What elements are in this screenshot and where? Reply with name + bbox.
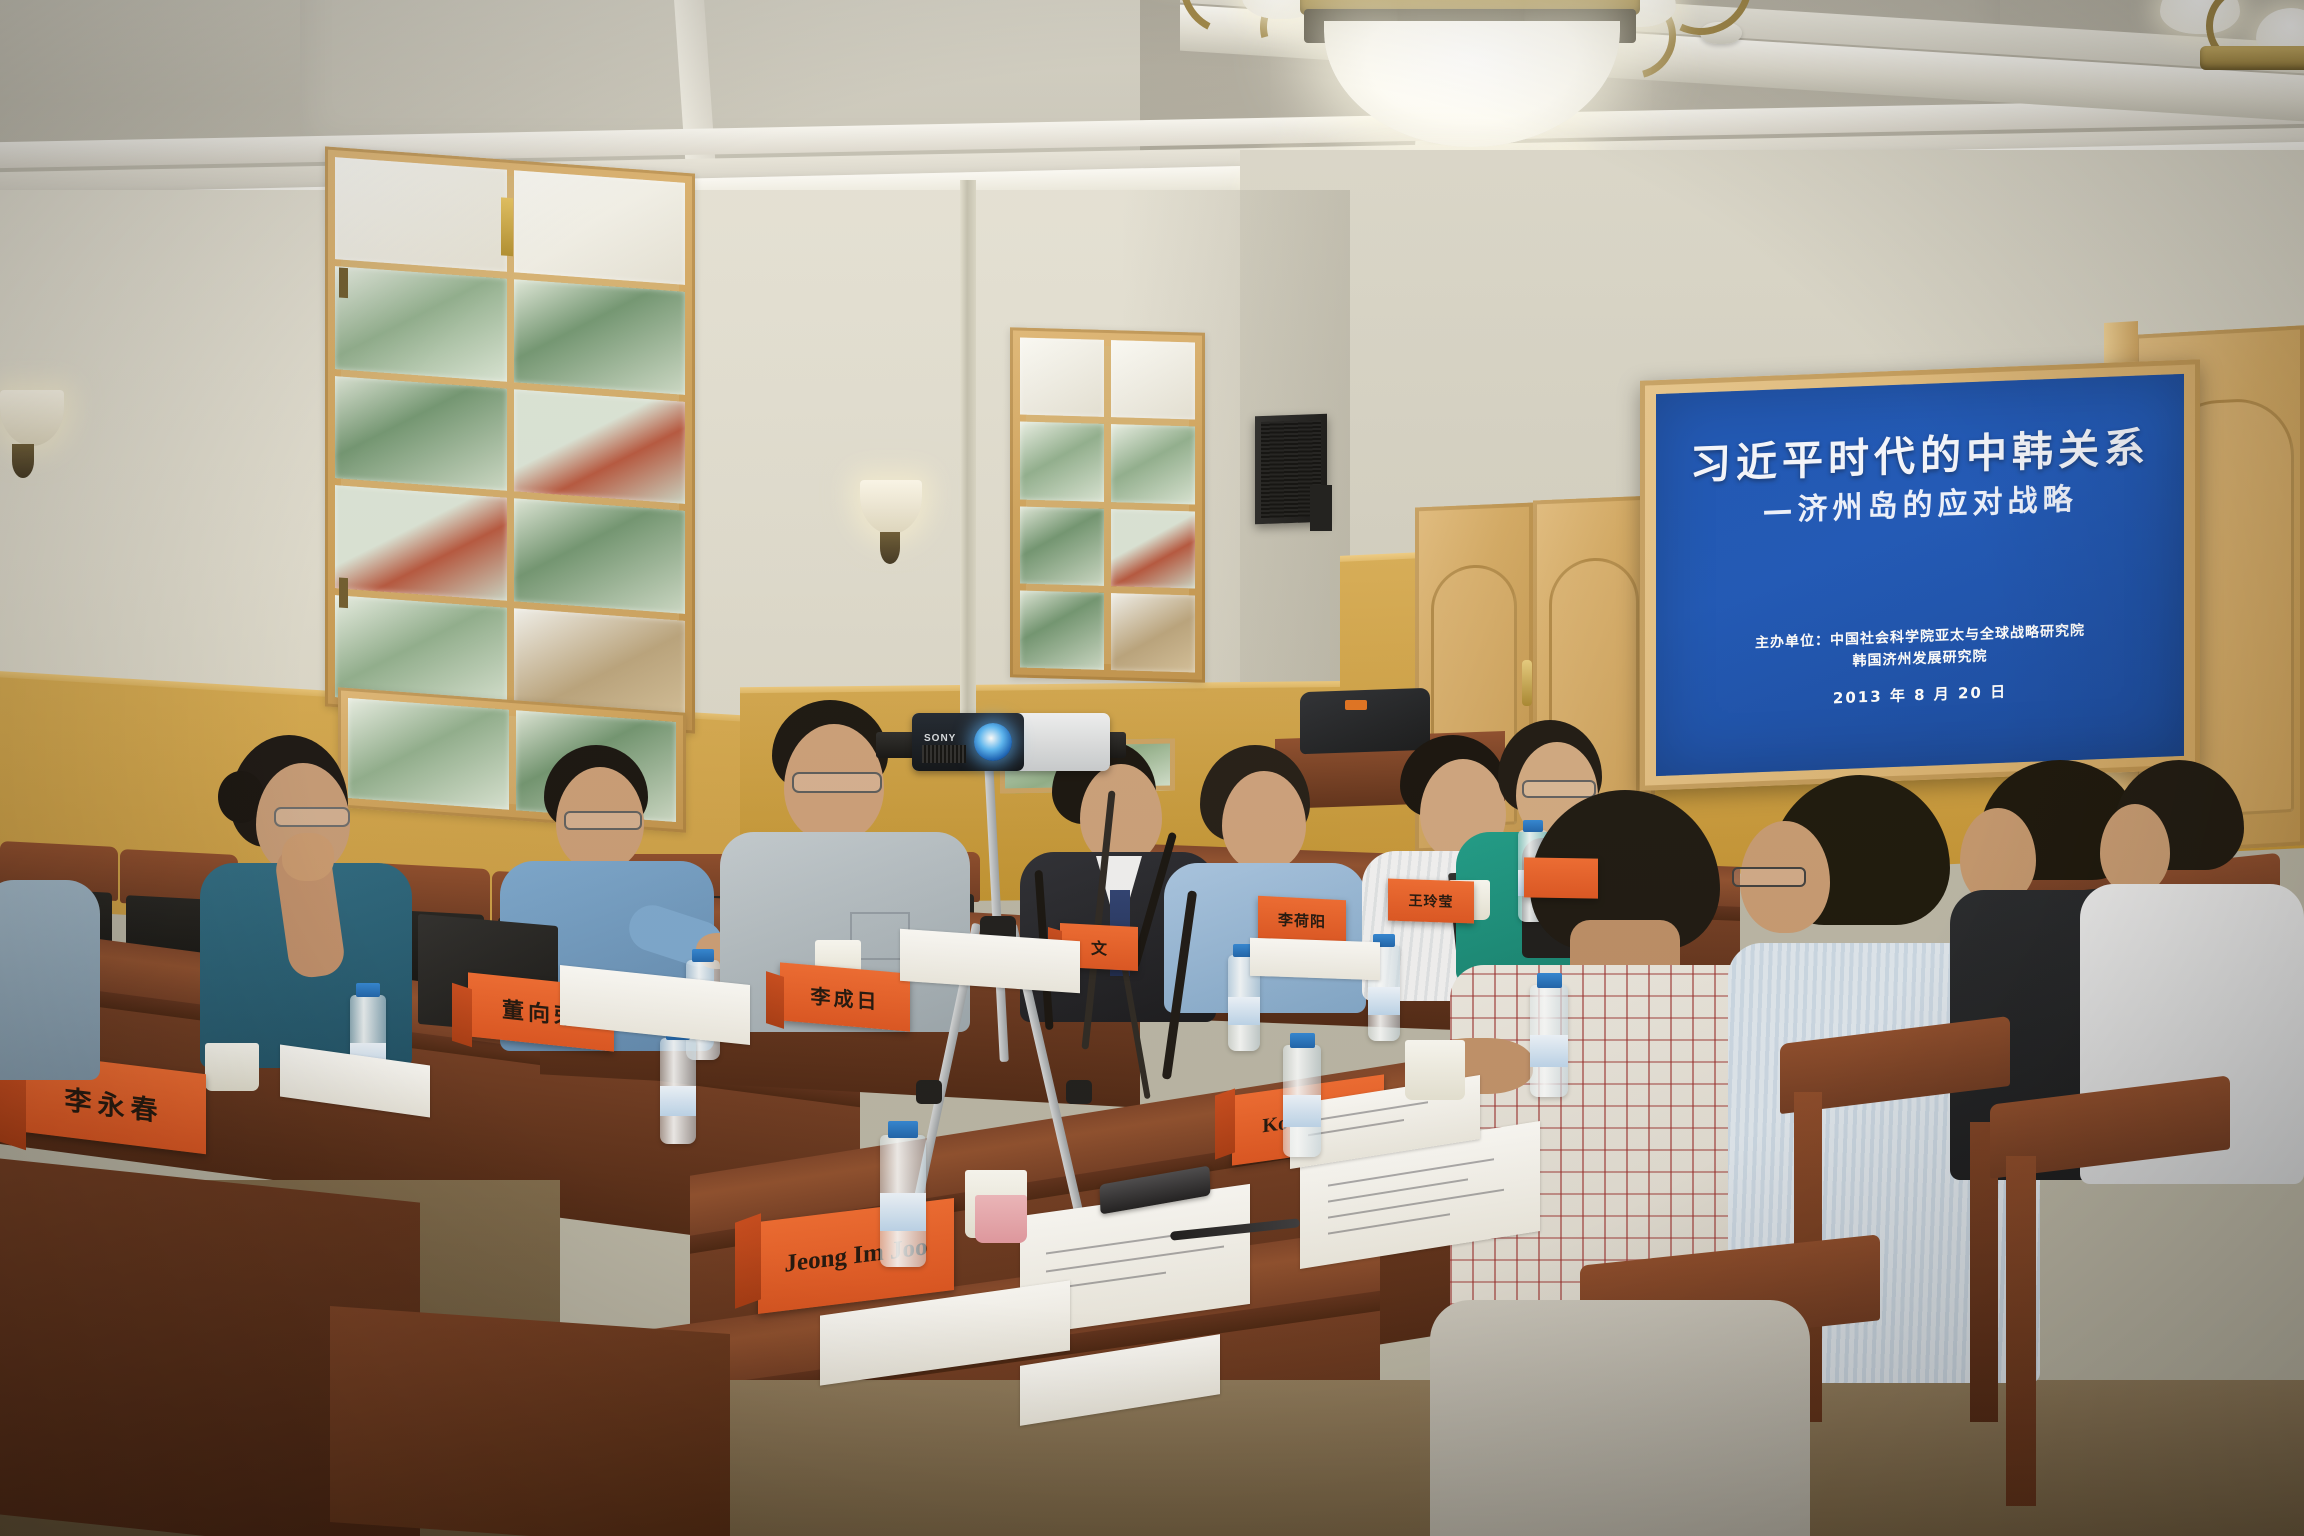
water-bottle[interactable] xyxy=(660,1038,696,1144)
name-card xyxy=(1524,857,1598,898)
document-sheet[interactable] xyxy=(1250,938,1380,981)
glasses xyxy=(564,811,642,830)
conference-room-photo: 习近平时代的中韩关系 —济州岛的应对战略 主办单位：中国社会科学院亚太与全球战略… xyxy=(0,0,2304,1536)
glasses xyxy=(792,772,882,793)
paper-cup[interactable] xyxy=(1405,1040,1465,1100)
water-bottle[interactable] xyxy=(1283,1045,1321,1157)
face xyxy=(2100,804,2170,894)
banner-frame: 习近平时代的中韩关系 —济州岛的应对战略 主办单位：中国社会科学院亚太与全球战略… xyxy=(1640,359,2200,791)
water-bottle[interactable] xyxy=(880,1135,926,1267)
casement-window-left xyxy=(325,146,695,733)
window-latch[interactable] xyxy=(501,197,513,256)
projector-vents xyxy=(922,745,966,763)
name-card-label: 李成日 xyxy=(811,979,880,1014)
window-hinge xyxy=(339,577,348,608)
speaker-bracket xyxy=(1310,485,1332,531)
glasses xyxy=(1732,867,1806,887)
face xyxy=(1222,771,1306,871)
name-card-backside xyxy=(1215,1088,1235,1159)
conference-chair-left-foreground-2[interactable] xyxy=(330,1306,730,1536)
window-hinge xyxy=(339,267,348,298)
wall-conduit-pipe xyxy=(960,180,976,740)
casement-window-right xyxy=(1010,327,1205,682)
conference-chair-foreground[interactable] xyxy=(1990,1090,2230,1530)
tripod-clamp xyxy=(916,1080,942,1104)
paper-cup[interactable] xyxy=(205,1043,259,1091)
door-handle[interactable] xyxy=(1522,660,1532,706)
name-card-backside xyxy=(452,983,472,1047)
name-card-label: 王玲莹 xyxy=(1409,890,1454,912)
projector-lens xyxy=(974,723,1012,761)
person-partial-left-edge xyxy=(0,880,100,1080)
name-card: 李成日 xyxy=(780,962,910,1031)
person-woman-teal xyxy=(190,735,450,1065)
name-card-label: 文 xyxy=(1091,935,1107,960)
banner-date: 2013 年 8 月 20 日 xyxy=(1656,674,2184,715)
wall-sconce-left xyxy=(0,390,70,490)
hand xyxy=(282,833,334,881)
name-card-label: 李永春 xyxy=(65,1077,164,1128)
chandelier-right-partial xyxy=(2140,0,2304,120)
name-card: 王玲莹 xyxy=(1388,878,1474,923)
projector-brand: SONY xyxy=(924,733,956,744)
name-card-backside xyxy=(766,971,784,1029)
pink-cup[interactable] xyxy=(975,1195,1027,1243)
name-card-backside xyxy=(735,1213,761,1308)
name-card-label: 李荷阳 xyxy=(1278,908,1326,932)
conference-banner: 习近平时代的中韩关系 —济州岛的应对战略 主办单位：中国社会科学院亚太与全球战略… xyxy=(1656,374,2184,776)
person-foreground-seated xyxy=(1430,1300,1810,1536)
name-card: 李荷阳 xyxy=(1258,896,1346,945)
wall-sconce-center xyxy=(860,480,930,580)
name-card-backside xyxy=(0,1068,26,1150)
tripod-clamp xyxy=(1066,1080,1092,1104)
projector[interactable]: SONY xyxy=(912,713,1110,771)
glasses xyxy=(274,807,350,827)
water-bottle[interactable] xyxy=(1530,985,1568,1097)
bag-logo xyxy=(1345,700,1367,710)
